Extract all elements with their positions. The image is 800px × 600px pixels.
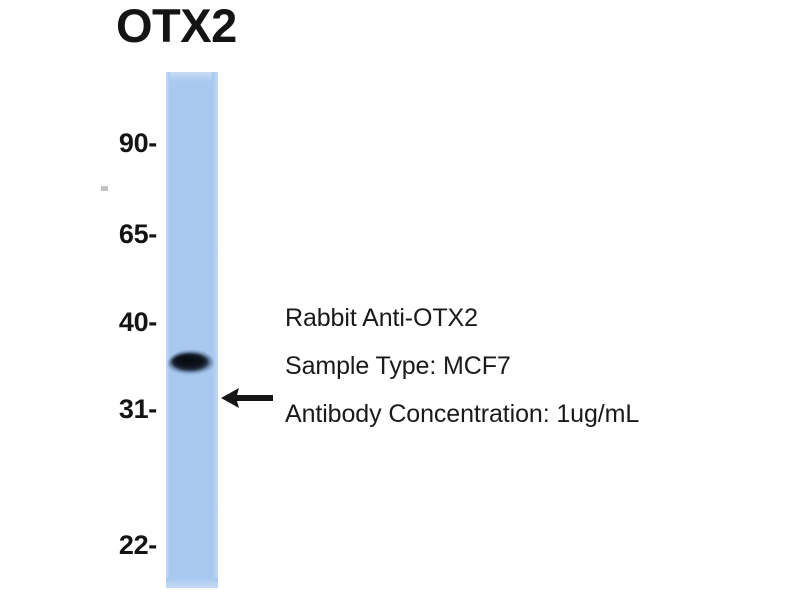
gel-lane-bottom-edge (166, 578, 218, 588)
annotation-antibody: Rabbit Anti-OTX2 (285, 306, 755, 331)
annotation-sample-type: Sample Type: MCF7 (285, 354, 755, 379)
mw-marker-40: 40- (95, 307, 157, 338)
gel-lane-right-edge (212, 72, 218, 588)
gel-lane-left-edge (166, 72, 170, 588)
protein-band-core (172, 354, 208, 369)
mw-faint-tick-mark (101, 186, 108, 191)
page-title: OTX2 (116, 2, 237, 49)
mw-marker-65: 65- (95, 219, 157, 250)
western-blot-figure: OTX2 90- 65- 40- 31- 22- Rabbit Anti-OTX… (0, 0, 800, 600)
mw-marker-90: 90- (95, 128, 157, 159)
annotation-block: Rabbit Anti-OTX2 Sample Type: MCF7 Antib… (285, 306, 755, 427)
band-indicator-arrow-icon (220, 386, 274, 410)
annotation-concentration: Antibody Concentration: 1ug/mL (285, 402, 755, 427)
gel-lane (166, 72, 218, 588)
mw-marker-31: 31- (95, 394, 157, 425)
mw-marker-22: 22- (95, 530, 157, 561)
gel-lane-top-edge (166, 72, 218, 82)
